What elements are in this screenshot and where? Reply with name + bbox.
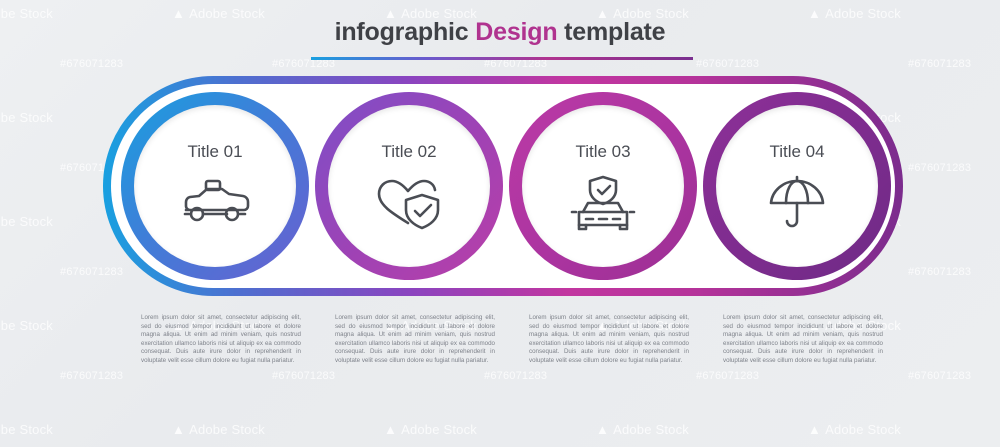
watermark-text: ▲Adobe Stock [384, 422, 477, 437]
watermark-text: ▲Adobe Stock [808, 422, 901, 437]
step-3-title: Title 03 [509, 142, 697, 162]
step-1-title: Title 01 [121, 142, 309, 162]
page-title: infographic Design template [0, 18, 1000, 47]
step-1-body: Lorem ipsum dolor sit amet, consectetur … [141, 314, 301, 366]
taxi-car-icon [121, 170, 309, 238]
car-shield-insurance-icon [509, 170, 697, 238]
step-2-body: Lorem ipsum dolor sit amet, consectetur … [335, 314, 495, 366]
watermark-text: ▲Adobe Stock [0, 110, 53, 125]
canvas: ▲Adobe Stock▲Adobe Stock▲Adobe Stock▲Ado… [0, 0, 1000, 447]
watermark-text: ▲Adobe Stock [0, 422, 53, 437]
infographic-band: Title 01 Title 02 [103, 76, 903, 296]
watermark-text: #676071283 [908, 162, 971, 174]
step-4[interactable]: Title 04 [703, 92, 891, 280]
watermark-text: ▲Adobe Stock [0, 318, 53, 333]
watermark-text: ▲Adobe Stock [0, 214, 53, 229]
watermark-text: #676071283 [60, 58, 123, 70]
title-word-design: Design [475, 18, 557, 46]
title-underline [311, 57, 693, 60]
step-4-title: Title 04 [703, 142, 891, 162]
watermark-text: #676071283 [60, 370, 123, 382]
watermark-text: #676071283 [696, 58, 759, 70]
umbrella-location-pin-icon [703, 170, 891, 238]
step-3-body: Lorem ipsum dolor sit amet, consectetur … [529, 314, 689, 366]
watermark-text: ▲Adobe Stock [596, 422, 689, 437]
watermark-text: #676071283 [696, 370, 759, 382]
step-4-body: Lorem ipsum dolor sit amet, consectetur … [723, 314, 883, 366]
watermark-text: ▲Adobe Stock [172, 422, 265, 437]
step-1[interactable]: Title 01 [121, 92, 309, 280]
step-2-title: Title 02 [315, 142, 503, 162]
step-1-body-text: Lorem ipsum dolor sit amet, consectetur … [141, 314, 301, 366]
step-4-body-text: Lorem ipsum dolor sit amet, consectetur … [723, 314, 883, 366]
watermark-text: #676071283 [484, 370, 547, 382]
step-3-body-text: Lorem ipsum dolor sit amet, consectetur … [529, 314, 689, 366]
step-2[interactable]: Title 02 [315, 92, 503, 280]
watermark-text: #676071283 [908, 266, 971, 278]
step-2-body-text: Lorem ipsum dolor sit amet, consectetur … [335, 314, 495, 366]
watermark-text: #676071283 [908, 370, 971, 382]
heart-shield-check-icon [315, 170, 503, 238]
title-word-infographic: infographic [335, 18, 469, 46]
title-word-template: template [564, 18, 665, 46]
watermark-text: #676071283 [272, 370, 335, 382]
watermark-text: #676071283 [908, 58, 971, 70]
step-3[interactable]: Title 03 [509, 92, 697, 280]
